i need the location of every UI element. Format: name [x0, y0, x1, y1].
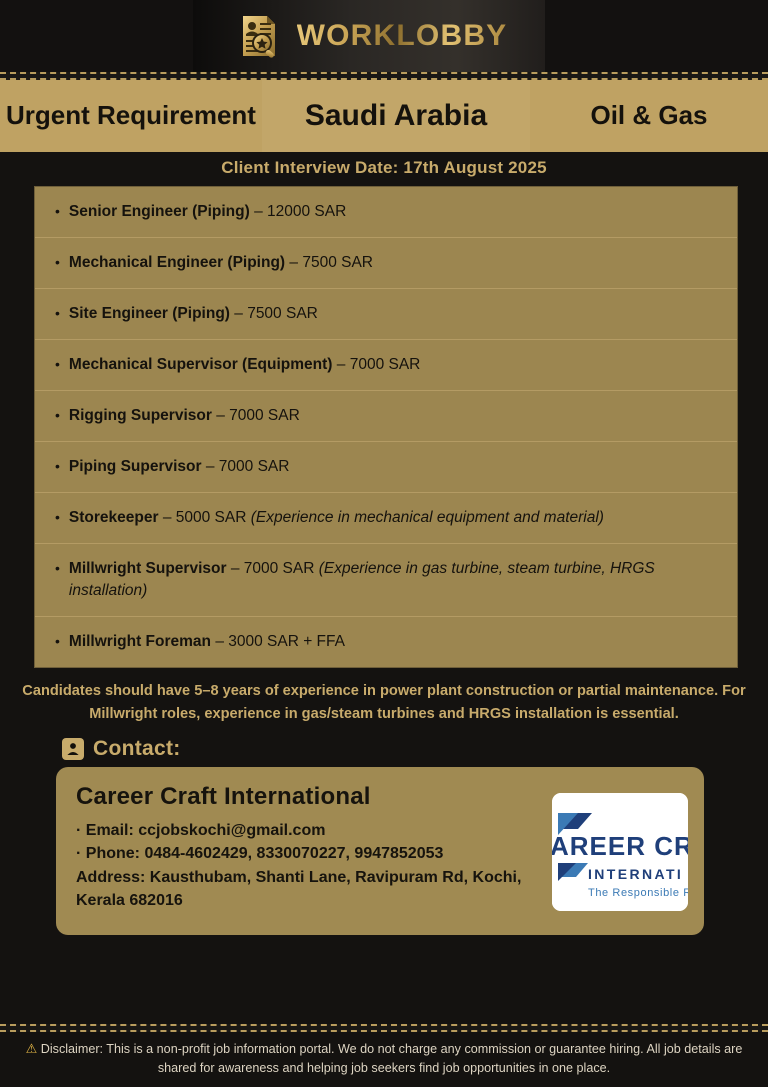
job-title: Senior Engineer (Piping) — [69, 203, 250, 220]
interview-date-row: Client Interview Date: 17th August 2025 — [0, 152, 768, 184]
job-salary: – 7000 SAR — [231, 560, 315, 577]
bullet-icon: • — [55, 201, 60, 222]
brand-header: WORKLOBBY — [0, 0, 768, 72]
contact-heading: Contact: — [0, 729, 768, 767]
job-row: • Millwright Supervisor – 7000 SAR (Expe… — [35, 544, 737, 617]
divider-dashed-top — [0, 72, 768, 80]
job-salary: – 7500 SAR — [289, 254, 373, 271]
contact-person-icon — [62, 738, 84, 760]
requirements-text: Candidates should have 5–8 years of expe… — [0, 668, 768, 729]
contact-card-wrapper: Career Craft International · Email: ccjo… — [0, 767, 768, 935]
contact-heading-label: Contact: — [93, 737, 181, 761]
job-row: • Mechanical Engineer (Piping) – 7500 SA… — [35, 238, 737, 289]
disclaimer-zone: ⚠ Disclaimer: This is a non-profit job i… — [0, 1024, 768, 1087]
svg-text:INTERNATI: INTERNATI — [588, 866, 683, 882]
job-title: Rigging Supervisor — [69, 407, 212, 424]
job-salary: – 12000 SAR — [254, 203, 346, 220]
contact-address: Address: Kausthubam, Shanti Lane, Ravipu… — [76, 866, 536, 912]
header-banner: Urgent Requirement Saudi Arabia Oil & Ga… — [0, 80, 768, 152]
disclaimer: ⚠ Disclaimer: This is a non-profit job i… — [0, 1032, 768, 1087]
bullet-icon: • — [55, 558, 60, 579]
bullet-icon: • — [55, 303, 60, 324]
job-row: • Piping Supervisor – 7000 SAR — [35, 442, 737, 493]
bullet-icon: • — [55, 456, 60, 477]
bullet-icon: • — [55, 631, 60, 652]
job-row: • Storekeeper – 5000 SAR (Experience in … — [35, 493, 737, 544]
resume-magnifier-icon — [235, 12, 283, 60]
job-row: • Mechanical Supervisor (Equipment) – 70… — [35, 340, 737, 391]
bullet-icon: • — [55, 252, 60, 273]
job-poster: WORKLOBBY Urgent Requirement Saudi Arabi… — [0, 0, 768, 1087]
header-sector: Oil & Gas — [530, 80, 768, 152]
interview-date-text: Client Interview Date: 17th August 2025 — [221, 158, 547, 178]
job-row: • Rigging Supervisor – 7000 SAR — [35, 391, 737, 442]
job-salary: – 7000 SAR — [216, 407, 300, 424]
job-title: Millwright Foreman — [69, 633, 211, 650]
job-title: Mechanical Engineer (Piping) — [69, 254, 285, 271]
job-title: Site Engineer (Piping) — [69, 305, 230, 322]
job-salary: – 3000 SAR + FFA — [215, 633, 345, 650]
job-salary: – 7500 SAR — [234, 305, 318, 322]
job-salary: – 5000 SAR — [163, 509, 247, 526]
svg-text:AREER CRA: AREER CRA — [552, 831, 688, 861]
jobs-list: • Senior Engineer (Piping) – 12000 SAR •… — [34, 186, 738, 668]
job-salary: – 7000 SAR — [337, 356, 421, 373]
header-country: Saudi Arabia — [262, 80, 530, 152]
bullet-icon: • — [55, 405, 60, 426]
bullet-icon: • — [55, 354, 60, 375]
job-row: • Senior Engineer (Piping) – 12000 SAR — [35, 187, 737, 238]
job-row: • Site Engineer (Piping) – 7500 SAR — [35, 289, 737, 340]
warning-triangle-icon: ⚠ — [26, 1041, 38, 1056]
brand-name: WORKLOBBY — [297, 19, 508, 53]
job-salary: – 7000 SAR — [206, 458, 290, 475]
career-craft-logo: AREER CRA INTERNATI The Responsible R — [552, 793, 688, 911]
divider-dashed-bottom — [0, 1024, 768, 1032]
header-urgent-requirement: Urgent Requirement — [0, 80, 262, 152]
bullet-icon: • — [55, 507, 60, 528]
job-title: Mechanical Supervisor (Equipment) — [69, 356, 333, 373]
svg-text:The Responsible R: The Responsible R — [588, 887, 688, 899]
job-title: Storekeeper — [69, 509, 159, 526]
disclaimer-text: Disclaimer: This is a non-profit job inf… — [41, 1042, 743, 1075]
contact-card: Career Craft International · Email: ccjo… — [56, 767, 704, 935]
job-note: (Experience in mechanical equipment and … — [251, 509, 604, 526]
jobs-section: • Senior Engineer (Piping) – 12000 SAR •… — [0, 184, 768, 668]
job-title: Millwright Supervisor — [69, 560, 227, 577]
job-row: • Millwright Foreman – 3000 SAR + FFA — [35, 617, 737, 667]
job-title: Piping Supervisor — [69, 458, 202, 475]
